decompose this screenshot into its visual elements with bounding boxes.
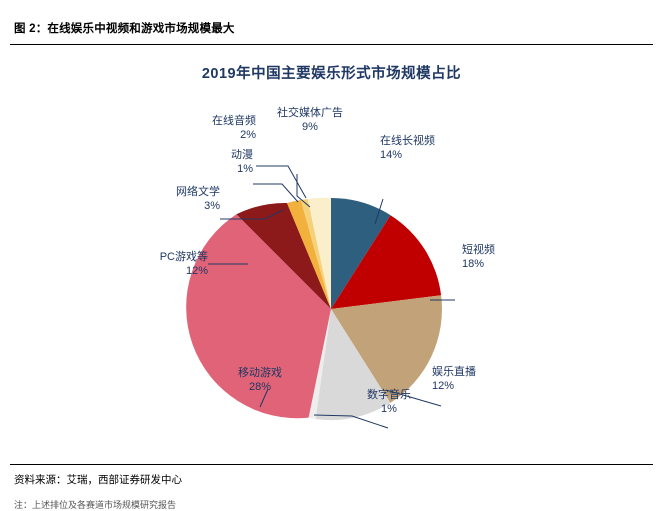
pie-label-short-video: 短视频 18% bbox=[462, 243, 542, 271]
pie-label-pc-games: PC游戏等 12% bbox=[128, 250, 208, 278]
pie-label-social-media-ads-value: 9% bbox=[260, 120, 360, 134]
leader-line-animation bbox=[253, 184, 298, 202]
pie-label-online-audio-name: 在线音频 bbox=[212, 115, 256, 127]
source-note: 资料来源：艾瑞，西部证券研发中心 bbox=[14, 472, 182, 487]
pie-label-social-media-ads: 社交媒体广告 9% bbox=[260, 106, 360, 134]
pie-chart: 社交媒体广告 9% 在线长视频 14% 短视频 18% 娱乐直播 12% 数字音… bbox=[0, 44, 663, 464]
pie-label-web-literature: 网络文学 3% bbox=[140, 185, 220, 213]
pie-label-social-media-ads-name: 社交媒体广告 bbox=[277, 107, 343, 119]
pie-label-long-video-name: 在线长视频 bbox=[380, 135, 435, 147]
pie-label-short-video-value: 18% bbox=[462, 257, 542, 271]
pie-label-long-video-value: 14% bbox=[380, 148, 470, 162]
pie-label-live-streaming: 娱乐直播 12% bbox=[432, 365, 512, 393]
pie-label-digital-music-value: 1% bbox=[344, 402, 434, 416]
pie-label-live-streaming-name: 娱乐直播 bbox=[432, 366, 476, 378]
pie-label-web-literature-value: 3% bbox=[140, 199, 220, 213]
pie-label-live-streaming-value: 12% bbox=[432, 379, 512, 393]
footer-note: 注：上述排位及各赛道市场规模研究报告 bbox=[14, 498, 176, 511]
pie-label-online-audio-value: 2% bbox=[176, 128, 256, 142]
pie-label-mobile-games-name: 移动游戏 bbox=[238, 367, 282, 379]
pie-label-animation: 动漫 1% bbox=[193, 148, 253, 176]
pie-label-pc-games-name: PC游戏等 bbox=[160, 251, 208, 263]
pie-label-long-video: 在线长视频 14% bbox=[380, 134, 470, 162]
pie-label-animation-value: 1% bbox=[193, 162, 253, 176]
pie-label-animation-name: 动漫 bbox=[231, 149, 253, 161]
pie-label-online-audio: 在线音频 2% bbox=[176, 114, 256, 142]
leader-line-online-audio bbox=[256, 166, 306, 198]
figure-caption: 图 2：在线娱乐中视频和游戏市场规模最大 bbox=[14, 20, 235, 36]
pie-label-digital-music: 数字音乐 1% bbox=[344, 388, 434, 416]
pie-label-mobile-games-value: 28% bbox=[212, 380, 308, 394]
pie-label-digital-music-name: 数字音乐 bbox=[367, 389, 411, 401]
pie-label-pc-games-value: 12% bbox=[128, 264, 208, 278]
pie-label-short-video-name: 短视频 bbox=[462, 244, 495, 256]
pie-label-mobile-games: 移动游戏 28% bbox=[212, 366, 308, 394]
pie-label-web-literature-name: 网络文学 bbox=[176, 186, 220, 198]
divider-bottom bbox=[10, 464, 653, 465]
